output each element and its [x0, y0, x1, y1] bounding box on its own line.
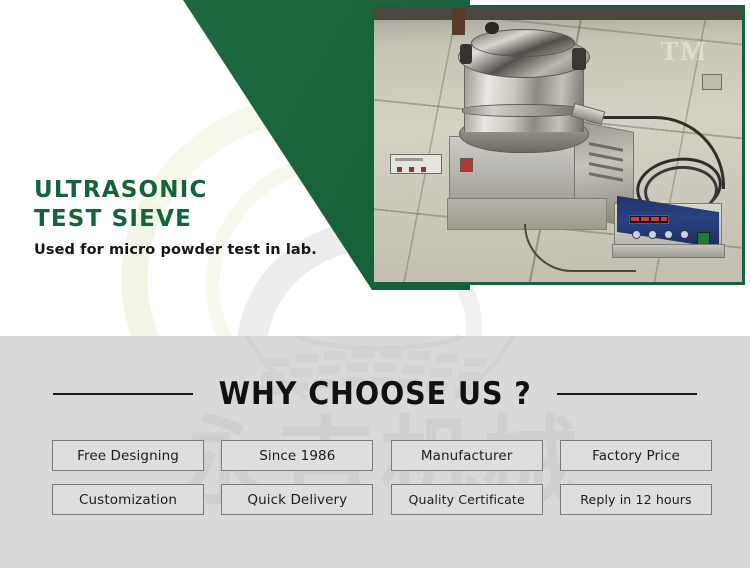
product-banner: TM ULTRASONIC TEST SIEVE Used for micro …	[0, 0, 750, 568]
benefit-pill-manufacturer[interactable]: Manufacturer	[391, 440, 543, 471]
machine-power-button	[460, 158, 473, 172]
generator-display	[629, 215, 669, 224]
why-choose-us-title: WHY CHOOSE US ?	[218, 376, 531, 412]
why-choose-us-heading: WHY CHOOSE US ?	[0, 376, 750, 412]
benefit-pill-quality-certificate[interactable]: Quality Certificate	[391, 484, 543, 515]
benefit-pill-customization[interactable]: Customization	[52, 484, 204, 515]
benefit-pill-reply-in-12-hours[interactable]: Reply in 12 hours	[560, 484, 712, 515]
heading-rule-right	[557, 393, 697, 395]
benefit-pill-quick-delivery[interactable]: Quick Delivery	[221, 484, 373, 515]
sieve-clamp-left	[460, 44, 472, 64]
benefit-pill-since-1986[interactable]: Since 1986	[221, 440, 373, 471]
hero-text-block: ULTRASONIC TEST SIEVE Used for micro pow…	[34, 176, 354, 258]
why-choose-us-section: 永吉机械 WHY CHOOSE US ? Free Designing Sinc…	[0, 336, 750, 568]
machine-control-panel	[390, 154, 442, 174]
hero-title-line-2: TEST SIEVE	[34, 206, 192, 232]
hero-subtitle: Used for micro powder test in lab.	[34, 242, 354, 258]
product-photo-frame: TM	[371, 5, 745, 285]
floor-back-wall	[374, 8, 742, 20]
hero-title-line-1: ULTRASONIC	[34, 177, 208, 203]
sieve-clamp-band	[462, 104, 584, 117]
generator-knob-2	[648, 230, 657, 239]
product-photo: TM	[374, 8, 742, 282]
table-leg	[452, 8, 465, 35]
hero-section: TM ULTRASONIC TEST SIEVE Used for micro …	[0, 0, 750, 336]
generator-knob-3	[664, 230, 673, 239]
sieve-lid-top	[471, 29, 575, 57]
benefit-pill-grid: Free Designing Since 1986 Manufacturer F…	[52, 440, 712, 515]
wall-socket	[702, 74, 722, 90]
photo-tm-watermark: TM	[661, 36, 709, 67]
heading-rule-left	[53, 393, 193, 395]
benefit-row-2: Customization Quick Delivery Quality Cer…	[52, 484, 712, 515]
sieve-clamp-right	[572, 48, 586, 70]
benefit-pill-factory-price[interactable]: Factory Price	[560, 440, 712, 471]
generator-knob-4	[680, 230, 689, 239]
benefit-row-1: Free Designing Since 1986 Manufacturer F…	[52, 440, 712, 471]
benefit-pill-free-designing[interactable]: Free Designing	[52, 440, 204, 471]
sieve-lid-knob	[485, 22, 499, 34]
hero-title: ULTRASONIC TEST SIEVE	[34, 176, 354, 234]
